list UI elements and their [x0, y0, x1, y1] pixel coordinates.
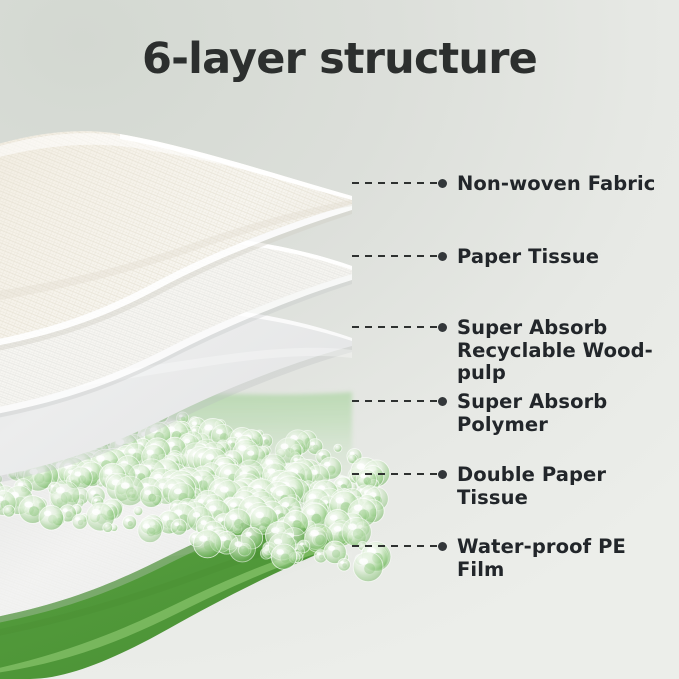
leader-line-icon [352, 326, 438, 328]
label-row-double-paper-tissue: Double Paper Tissue [352, 464, 679, 509]
label-row-paper-tissue: Paper Tissue [352, 246, 599, 269]
leader-dot-icon [438, 179, 447, 188]
layer-label: Super Absorb Polymer [457, 391, 679, 436]
leader-line-icon [352, 400, 438, 402]
leader-line-icon [352, 473, 438, 475]
label-row-non-woven-fabric: Non-woven Fabric [352, 173, 655, 196]
layer-structure-infographic: 6-layer structure [0, 0, 679, 679]
leader-dot-icon [438, 397, 447, 406]
layer-label: Non-woven Fabric [457, 173, 655, 196]
label-row-super-absorb-recyclable-wood-pulp: Super Absorb Recyclable Wood-pulp [352, 317, 679, 385]
label-row-super-absorb-polymer: Super Absorb Polymer [352, 391, 679, 436]
layer-label: Water-proof PE Film [457, 536, 679, 581]
leader-line-icon [352, 182, 438, 184]
leader-dot-icon [438, 323, 447, 332]
leader-dot-icon [438, 470, 447, 479]
leader-dot-icon [438, 542, 447, 551]
layer-label: Super Absorb Recyclable Wood-pulp [457, 317, 679, 385]
leader-line-icon [352, 545, 438, 547]
leader-line-icon [352, 255, 438, 257]
layer-label: Double Paper Tissue [457, 464, 679, 509]
leader-dot-icon [438, 252, 447, 261]
label-row-water-proof-pe-film: Water-proof PE Film [352, 536, 679, 581]
layer-label: Paper Tissue [457, 246, 599, 269]
